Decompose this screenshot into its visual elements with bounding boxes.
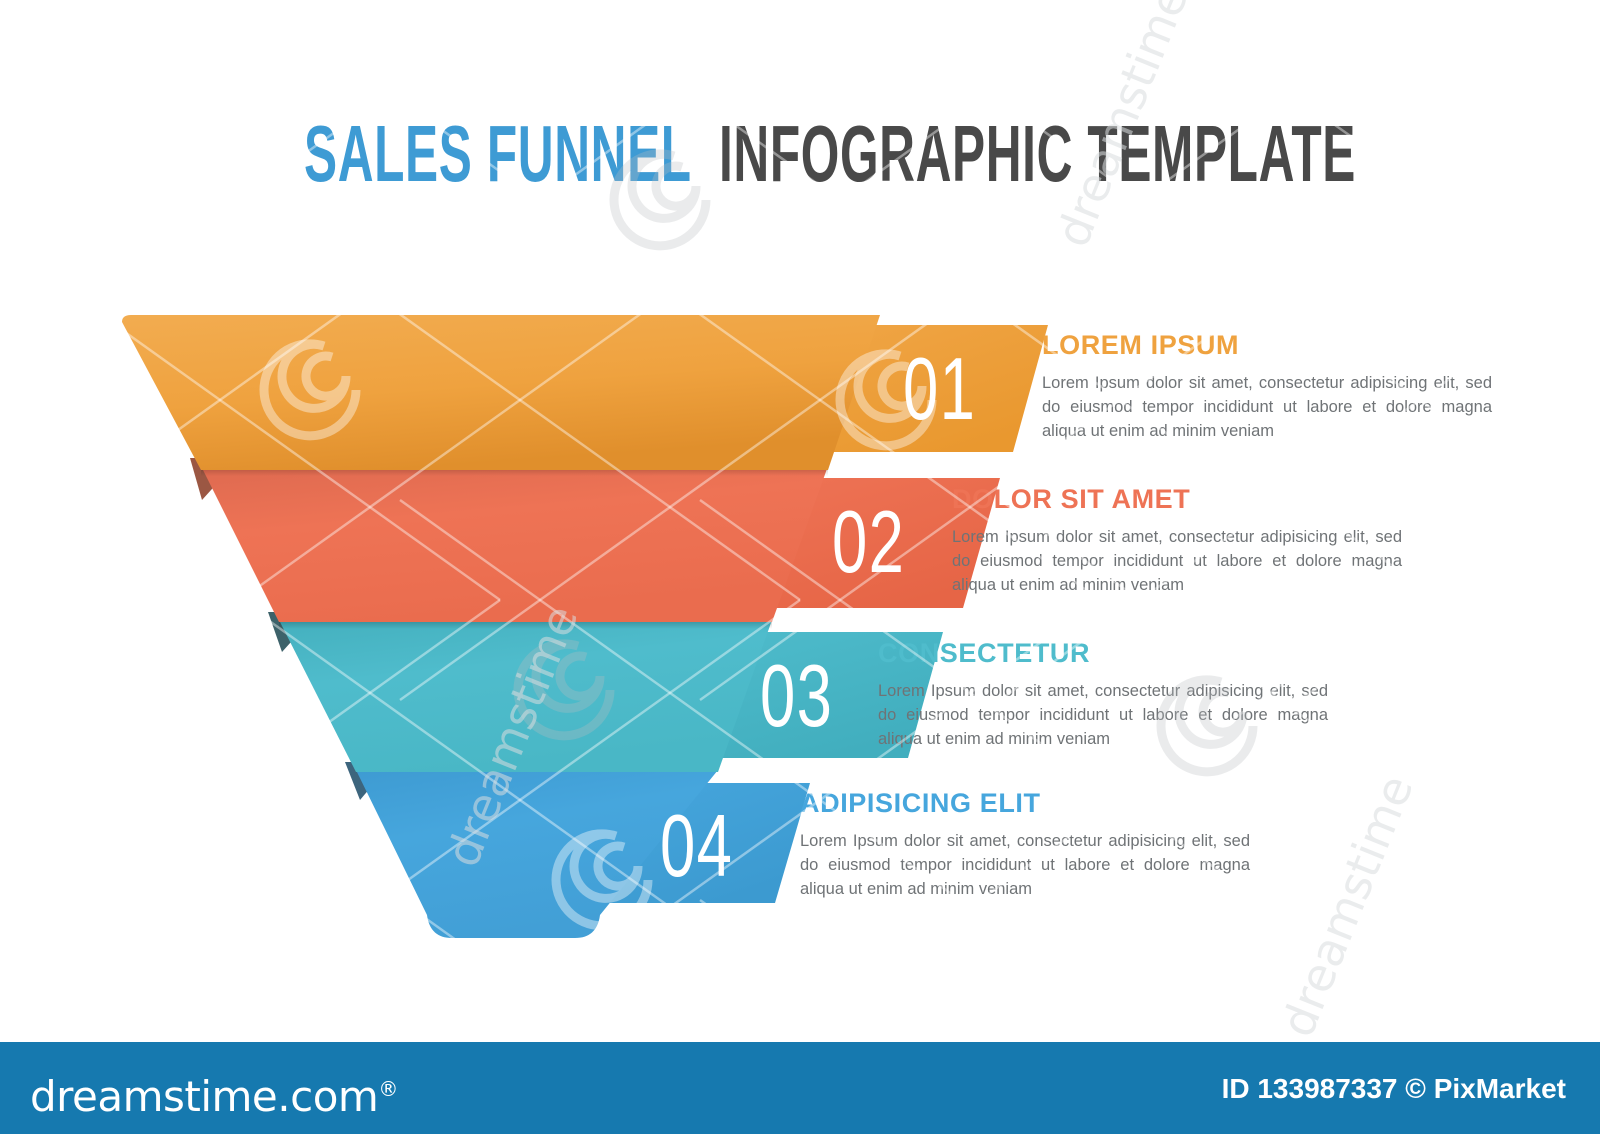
infographic-canvas: SALES FUNNELINFOGRAPHIC TEMPLATE [0, 0, 1600, 1134]
dreamstime-logo: dreamstime.com® [30, 1067, 398, 1119]
step-body-03: Lorem Ipsum dolor sit amet, consectetur … [878, 679, 1328, 751]
step-number-02: 02 [832, 498, 905, 586]
step-callout-03: CONSECTETUR Lorem Ipsum dolor sit amet, … [878, 638, 1328, 751]
registered-mark-icon: ® [378, 1077, 398, 1101]
step-callout-04: ADIPISICING ELIT Lorem Ipsum dolor sit a… [800, 788, 1250, 901]
funnel-band-03 [268, 612, 943, 772]
step-callout-01: LOREM IPSUM Lorem Ipsum dolor sit amet, … [1042, 330, 1492, 443]
step-callout-02: DOLOR SIT AMET Lorem Ipsum dolor sit ame… [952, 484, 1402, 597]
step-number-04: 04 [660, 802, 733, 890]
step-number-01: 01 [903, 345, 976, 433]
stock-footer-bar: dreamstime.com® ID 133987337 © PixMarket [0, 1042, 1600, 1134]
step-number-03: 03 [760, 652, 833, 740]
step-heading-01: LOREM IPSUM [1042, 330, 1492, 360]
step-body-01: Lorem Ipsum dolor sit amet, consectetur … [1042, 371, 1492, 443]
step-body-02: Lorem Ipsum dolor sit amet, consectetur … [952, 525, 1402, 597]
step-heading-03: CONSECTETUR [878, 638, 1328, 668]
step-heading-04: ADIPISICING ELIT [800, 788, 1250, 818]
step-body-04: Lorem Ipsum dolor sit amet, consectetur … [800, 829, 1250, 901]
brand-text: dreamstime.com [30, 1072, 378, 1121]
funnel-band-04 [345, 762, 810, 938]
step-heading-02: DOLOR SIT AMET [952, 484, 1402, 514]
image-credit: ID 133987337 © PixMarket [1222, 1074, 1566, 1104]
